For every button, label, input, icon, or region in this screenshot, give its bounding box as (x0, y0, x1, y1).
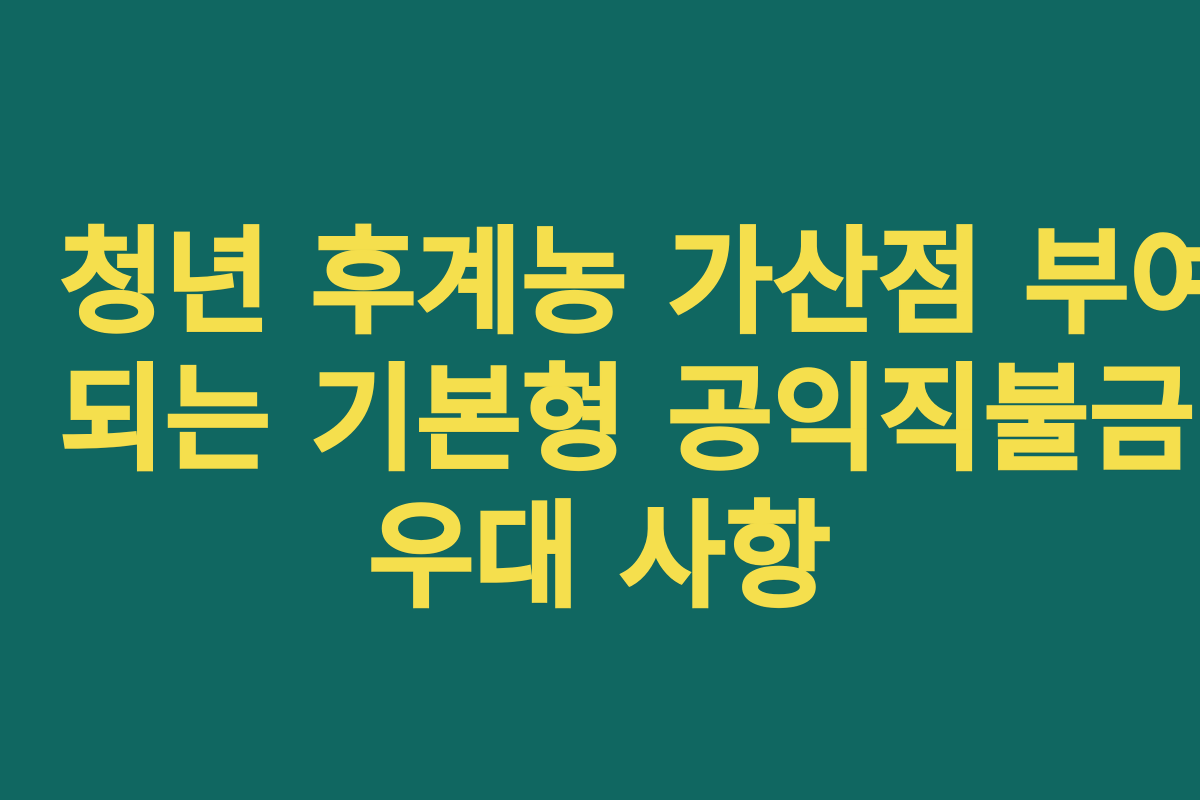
banner-canvas: 청년 후계농 가산점 부여 되는 기본형 공익직불금 우대 사항 (0, 0, 1200, 800)
headline-block: 청년 후계농 가산점 부여 되는 기본형 공익직불금 우대 사항 (60, 214, 1140, 625)
headline-line-2: 되는 기본형 공익직불금 (60, 351, 1140, 488)
headline-line-3: 우대 사항 (60, 488, 1140, 625)
headline-line-1: 청년 후계농 가산점 부여 (60, 214, 1140, 351)
